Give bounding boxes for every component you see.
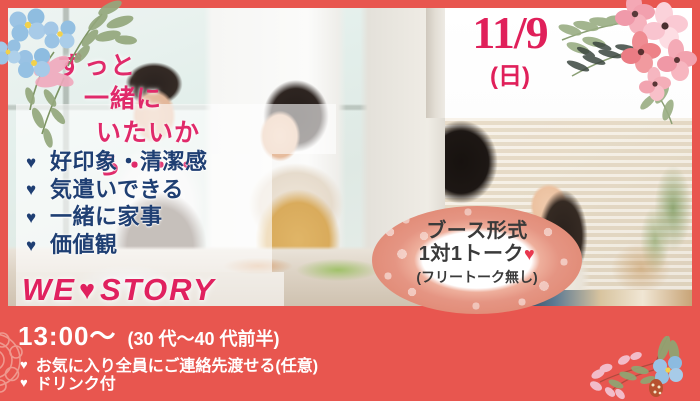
format-badge: ブース形式 1対1トーク♥ (フリートーク無し) <box>372 206 582 314</box>
badge-line-2: 1対1トーク♥ <box>372 243 582 266</box>
event-flyer: ずっと 一緒に いたいから・・・ ♥ 好印象・清潔感 ♥ 気遣いできる ♥ 一緒… <box>0 0 700 401</box>
perk-item: ♥ ドリンク付 <box>20 370 116 394</box>
feature-label: 一緒に家事 <box>50 205 163 230</box>
age-range: (30 代〜40 代前半) <box>128 325 280 351</box>
date-value: 11/9 <box>440 10 580 56</box>
perk-label: ドリンク付 <box>36 370 116 394</box>
time-row: 13:00〜 (30 代〜40 代前半) <box>18 316 280 353</box>
heart-icon: ♥ <box>26 154 50 171</box>
heart-icon: ♥ <box>20 358 28 371</box>
list-item: ♥ 気遣いできる <box>26 178 276 203</box>
headline-line-2: 一緒に <box>0 83 300 116</box>
heart-icon: ♥ <box>20 376 28 389</box>
feature-label: 価値観 <box>50 233 118 258</box>
floral-bottom-right-icon <box>582 336 694 401</box>
feature-label: 好印象・清潔感 <box>50 150 208 175</box>
heart-icon: ♥ <box>79 275 97 306</box>
feature-list: ♥ 好印象・清潔感 ♥ 気遣いできる ♥ 一緒に家事 ♥ 価値観 <box>26 150 276 261</box>
badge-line-2-text: 1対1トーク <box>419 243 524 265</box>
brand-logo: WE ♥ STORY <box>22 272 216 308</box>
list-item: ♥ 価値観 <box>26 233 276 258</box>
heart-icon: ♥ <box>524 244 535 264</box>
start-time: 13:00〜 <box>18 316 117 353</box>
logo-text-right: STORY <box>100 272 216 308</box>
heart-icon: ♥ <box>26 181 50 198</box>
badge-line-1: ブース形式 <box>372 220 582 243</box>
feature-label: 気遣いできる <box>50 178 184 203</box>
headline-line-1: ずっと <box>0 50 300 83</box>
heart-icon: ♥ <box>26 209 50 226</box>
heart-icon: ♥ <box>26 237 50 254</box>
list-item: ♥ 好印象・清潔感 <box>26 150 276 175</box>
event-date: 11/9 (日) <box>440 10 580 89</box>
format-badge-text: ブース形式 1対1トーク♥ (フリートーク無し) <box>372 220 582 286</box>
list-item: ♥ 一緒に家事 <box>26 205 276 230</box>
date-day-of-week: (日) <box>440 65 580 89</box>
badge-line-3: (フリートーク無し) <box>372 269 582 286</box>
logo-text-left: WE <box>22 272 76 308</box>
